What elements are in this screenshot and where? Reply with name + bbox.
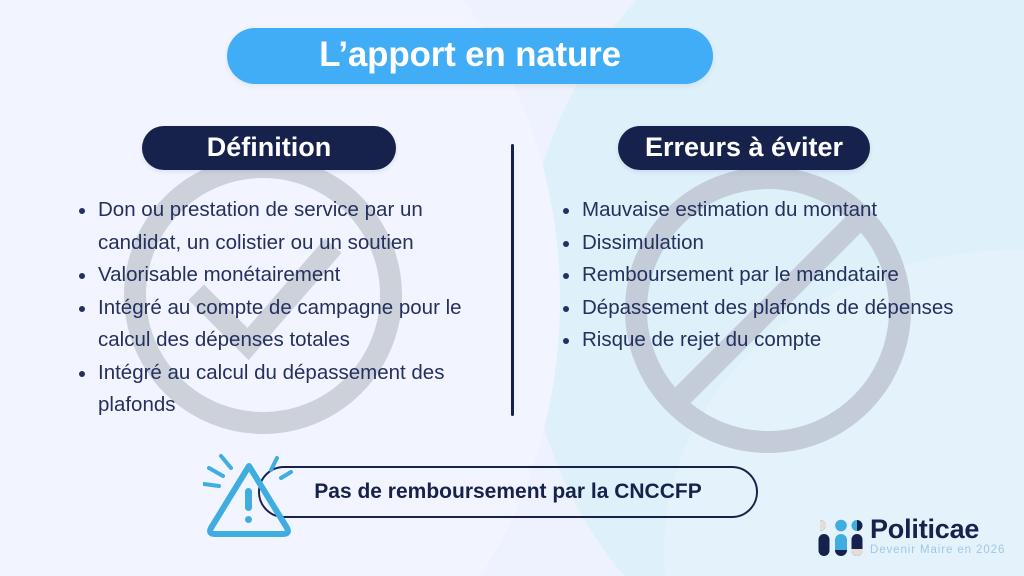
slide-canvas: L’apport en nature Définition Erreurs à … (0, 0, 1024, 576)
list-item: Mauvaise estimation du montant (556, 194, 986, 227)
list-item: Dissimulation (556, 227, 986, 260)
page-title-text: L’apport en nature (319, 37, 621, 75)
brand-logo-text: Politicae Devenir Maire en 2026 (870, 514, 1016, 557)
column-heading-definition: Définition (142, 126, 396, 170)
errors-list: Mauvaise estimation du montant Dissimula… (556, 194, 986, 357)
callout-text: Pas de remboursement par la CNCCFP (314, 481, 701, 504)
list-item: Valorisable monétairement (72, 259, 492, 292)
brand-tagline: Devenir Maire en 2026 (870, 543, 1016, 557)
brand-name: Politicae (870, 514, 1016, 544)
list-item: Intégré au compte de campagne pour le ca… (72, 292, 492, 357)
callout-banner: Pas de remboursement par la CNCCFP (258, 466, 758, 518)
page-title: L’apport en nature (227, 28, 713, 84)
warning-triangle-icon (203, 452, 315, 540)
column-heading-definition-text: Définition (207, 134, 331, 163)
list-item: Dépassement des plafonds de dépenses (556, 292, 986, 325)
definition-list: Don ou prestation de service par un cand… (72, 194, 492, 422)
list-item: Intégré au calcul du dépassement des pla… (72, 357, 492, 422)
list-item: Risque de rejet du compte (556, 324, 986, 357)
list-item: Don ou prestation de service par un cand… (72, 194, 492, 259)
three-people-icon (818, 516, 864, 558)
brand-logo[interactable]: Politicae Devenir Maire en 2026 (818, 510, 1014, 566)
list-item: Remboursement par le mandataire (556, 259, 986, 292)
column-heading-errors: Erreurs à éviter (618, 126, 870, 170)
column-heading-errors-text: Erreurs à éviter (645, 134, 843, 163)
column-divider (511, 144, 514, 416)
